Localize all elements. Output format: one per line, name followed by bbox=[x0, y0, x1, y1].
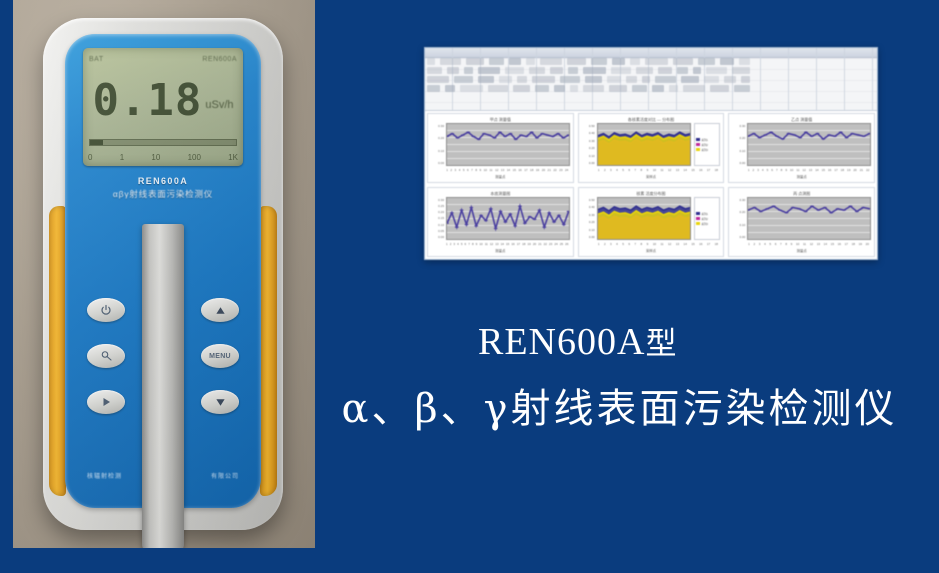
spreadsheet-cell bbox=[478, 67, 500, 74]
lcd-scale-tick: 1K bbox=[228, 153, 238, 162]
lcd-scale: 0 1 10 100 1K bbox=[88, 151, 238, 163]
spreadsheet-cell bbox=[681, 76, 699, 83]
x-tick-label: 4 bbox=[762, 168, 764, 172]
x-tick-label: 13 bbox=[676, 242, 679, 246]
grip-right bbox=[260, 206, 277, 496]
x-tick-label: 8 bbox=[475, 168, 477, 172]
y-tick-label: 0.30 bbox=[582, 139, 595, 143]
hand-strap bbox=[142, 224, 184, 548]
x-tick-label: 9 bbox=[647, 242, 649, 246]
x-tick-label: 24 bbox=[565, 168, 568, 172]
chart-title: 各核素活度对比 — 分布图 bbox=[582, 116, 721, 123]
spreadsheet-cell bbox=[683, 85, 705, 92]
chart-series-svg bbox=[598, 198, 691, 239]
product-title-line2: α、β、γ射线表面污染检测仪 bbox=[300, 386, 939, 432]
x-tick-label: 11 bbox=[660, 242, 663, 246]
chart-y-axis: 0.300.200.100.00 bbox=[732, 123, 745, 166]
legend-item: 系列3 bbox=[696, 148, 718, 152]
spreadsheet-cell bbox=[739, 58, 750, 65]
chart-y-axis: 0.300.200.100.00 bbox=[431, 123, 444, 166]
x-tick-label: 1 bbox=[446, 168, 448, 172]
x-tick-label: 4 bbox=[457, 242, 459, 246]
x-tick-label: 20 bbox=[542, 168, 545, 172]
spreadsheet-cell bbox=[550, 67, 563, 74]
chart-y-axis: 0.500.400.300.200.100.00 bbox=[582, 197, 595, 240]
down-button[interactable] bbox=[201, 390, 239, 414]
x-tick-label: 14 bbox=[684, 168, 687, 172]
x-tick-label: 10 bbox=[479, 242, 482, 246]
chart-title: 核素 活度分布图 bbox=[582, 190, 721, 197]
x-tick-label: 25 bbox=[560, 242, 563, 246]
chart-series-svg bbox=[598, 124, 691, 165]
x-tick-label: 15 bbox=[831, 242, 834, 246]
y-tick-label: 0.10 bbox=[732, 223, 745, 227]
legend-label: 系列1 bbox=[701, 138, 708, 142]
y-tick-label: 0.00 bbox=[431, 161, 444, 165]
chart-x-label: 测量点 bbox=[431, 248, 570, 254]
spreadsheet-cell bbox=[612, 58, 625, 65]
spreadsheet-cell bbox=[655, 76, 676, 83]
legend-label: 系列2 bbox=[701, 217, 708, 221]
y-tick-label: 0.20 bbox=[431, 136, 444, 140]
chart-x-label: 测量点 bbox=[732, 248, 871, 254]
x-tick-label: 2 bbox=[604, 242, 606, 246]
legend-swatch bbox=[696, 138, 700, 141]
x-tick-label: 6 bbox=[467, 168, 469, 172]
x-tick-label: 12 bbox=[810, 242, 813, 246]
chart-series-svg bbox=[748, 124, 870, 165]
x-tick-label: 11 bbox=[796, 168, 799, 172]
spreadsheet-cell bbox=[447, 67, 459, 74]
y-tick-label: 0.20 bbox=[582, 220, 595, 224]
x-tick-label: 14 bbox=[815, 168, 818, 172]
spreadsheet-cell bbox=[652, 85, 664, 92]
x-tick-label: 14 bbox=[501, 242, 504, 246]
x-tick-label: 18 bbox=[715, 168, 718, 172]
legend-label: 系列3 bbox=[701, 148, 708, 152]
legend-item: 系列3 bbox=[696, 222, 718, 226]
chart-plot-area bbox=[597, 197, 692, 240]
spreadsheet-cell bbox=[517, 76, 527, 83]
x-tick-label: 15 bbox=[513, 168, 516, 172]
y-tick-label: 0.50 bbox=[582, 124, 595, 128]
legend-label: 系列2 bbox=[701, 143, 708, 147]
y-tick-label: 0.20 bbox=[732, 210, 745, 214]
y-tick-label: 0.30 bbox=[732, 198, 745, 202]
y-tick-label: 0.20 bbox=[431, 210, 444, 214]
chart-legend: 系列1系列2系列3 bbox=[694, 197, 720, 240]
y-tick-label: 0.00 bbox=[582, 161, 595, 165]
spreadsheet-cell bbox=[645, 58, 668, 65]
x-tick-label: 13 bbox=[676, 168, 679, 172]
y-tick-label: 0.30 bbox=[431, 198, 444, 202]
x-tick-label: 6 bbox=[628, 168, 630, 172]
x-tick-label: 12 bbox=[803, 168, 806, 172]
spreadsheet-cell bbox=[642, 76, 650, 83]
spreadsheet-cell bbox=[540, 58, 562, 65]
spreadsheet-cell bbox=[529, 67, 545, 74]
legend-swatch bbox=[696, 212, 700, 215]
x-tick-label: 24 bbox=[554, 242, 557, 246]
spreadsheet-cell bbox=[454, 76, 473, 83]
device-body: BAT REN600A 0.18 uSv/h 0 1 10 100 1K bbox=[43, 18, 283, 530]
spreadsheet-cell bbox=[724, 76, 736, 83]
x-tick-label: 12 bbox=[668, 168, 671, 172]
x-tick-label: 13 bbox=[809, 168, 812, 172]
chart-x-label: 采样点 bbox=[582, 248, 721, 254]
spreadsheet-cell bbox=[585, 76, 602, 83]
chart-y-axis: 0.300.200.100.00 bbox=[732, 197, 745, 240]
triangle-up-icon bbox=[214, 305, 227, 316]
legend-item: 系列2 bbox=[696, 143, 718, 147]
spreadsheet-cell bbox=[427, 67, 442, 74]
x-tick-label: 8 bbox=[641, 168, 643, 172]
x-tick-label: 6 bbox=[628, 242, 630, 246]
spreadsheet-cell bbox=[560, 76, 580, 83]
legend-label: 系列3 bbox=[701, 222, 708, 226]
x-tick-label: 1 bbox=[598, 242, 600, 246]
chart-x-axis: 123456789101112131415161718192021222324 bbox=[445, 166, 570, 174]
x-tick-label: 2 bbox=[450, 242, 452, 246]
x-tick-label: 7 bbox=[780, 242, 782, 246]
y-tick-label: 0.00 bbox=[431, 235, 444, 239]
spreadsheet-cell bbox=[583, 67, 606, 74]
triangle-down-icon bbox=[214, 397, 227, 408]
spreadsheet-cell bbox=[509, 58, 521, 65]
x-tick-label: 1 bbox=[748, 242, 750, 246]
power-button[interactable] bbox=[87, 298, 125, 322]
y-tick-label: 0.40 bbox=[582, 131, 595, 135]
y-tick-label: 0.05 bbox=[431, 229, 444, 233]
product-model-name: REN600A bbox=[478, 321, 645, 363]
x-tick-label: 3 bbox=[453, 242, 455, 246]
lcd-scale-tick: 0 bbox=[88, 153, 92, 162]
x-tick-label: 17 bbox=[707, 242, 710, 246]
x-tick-label: 2 bbox=[753, 168, 755, 172]
spreadsheet-cell bbox=[677, 67, 688, 74]
x-tick-label: 23 bbox=[559, 168, 562, 172]
x-tick-label: 7 bbox=[634, 242, 636, 246]
chart-plot-area bbox=[597, 123, 692, 166]
x-tick-label: 12 bbox=[490, 242, 493, 246]
x-tick-label: 19 bbox=[859, 242, 862, 246]
x-tick-label: 16 bbox=[511, 242, 514, 246]
spreadsheet-cell bbox=[698, 58, 715, 65]
chart-title: 丙 点测图 bbox=[732, 190, 871, 197]
x-tick-label: 4 bbox=[616, 242, 618, 246]
y-tick-label: 0.10 bbox=[732, 149, 745, 153]
x-tick-label: 16 bbox=[828, 168, 831, 172]
x-tick-label: 15 bbox=[506, 242, 509, 246]
spreadsheet-cell bbox=[505, 67, 524, 74]
y-tick-label: 0.10 bbox=[431, 149, 444, 153]
footer-right-text: 有限公司 bbox=[211, 471, 239, 480]
x-tick-label: 3 bbox=[759, 242, 761, 246]
x-tick-label: 23 bbox=[549, 242, 552, 246]
x-tick-label: 16 bbox=[699, 168, 702, 172]
x-tick-label: 6 bbox=[771, 168, 773, 172]
x-tick-label: 5 bbox=[622, 168, 624, 172]
x-tick-label: 21 bbox=[548, 168, 551, 172]
chart-x-label: 测量点 bbox=[431, 174, 570, 180]
x-tick-label: 5 bbox=[461, 242, 463, 246]
spreadsheet-cell bbox=[669, 85, 678, 92]
chart-plot-area bbox=[747, 197, 871, 240]
chart-body: 0.500.400.300.200.100.00系列1系列2系列3 bbox=[582, 123, 721, 166]
x-tick-label: 19 bbox=[847, 168, 850, 172]
x-tick-label: 6 bbox=[775, 242, 777, 246]
lcd-display: BAT REN600A 0.18 uSv/h 0 1 10 100 1K bbox=[83, 48, 243, 166]
x-tick-label: 8 bbox=[472, 242, 474, 246]
spreadsheet-cell bbox=[567, 58, 586, 65]
x-tick-label: 18 bbox=[530, 168, 533, 172]
product-photo: BAT REN600A 0.18 uSv/h 0 1 10 100 1K bbox=[13, 0, 315, 548]
spreadsheet-cell bbox=[591, 58, 607, 65]
y-tick-label: 0.00 bbox=[732, 235, 745, 239]
chart-panel: 甲点 测量值0.300.200.100.00123456789101112131… bbox=[427, 113, 574, 183]
x-tick-label: 22 bbox=[553, 168, 556, 172]
x-tick-label: 9 bbox=[647, 168, 649, 172]
x-tick-label: 13 bbox=[501, 168, 504, 172]
spreadsheet-cell bbox=[568, 67, 578, 74]
x-tick-label: 3 bbox=[610, 242, 612, 246]
x-tick-label: 4 bbox=[764, 242, 766, 246]
x-tick-label: 10 bbox=[653, 168, 656, 172]
spreadsheet-cell bbox=[499, 76, 512, 83]
x-tick-label: 1 bbox=[748, 168, 750, 172]
legend-item: 系列2 bbox=[696, 217, 718, 221]
chart-title: 乙点 测量值 bbox=[732, 116, 871, 123]
chart-panel: 各核素活度对比 — 分布图0.500.400.300.200.100.00系列1… bbox=[578, 113, 725, 183]
y-tick-label: 0.00 bbox=[582, 235, 595, 239]
chart-series-svg bbox=[447, 124, 569, 165]
spreadsheet-cell bbox=[710, 85, 729, 92]
x-tick-label: 2 bbox=[604, 168, 606, 172]
lcd-status-right: REN600A bbox=[202, 56, 237, 63]
x-tick-label: 4 bbox=[616, 168, 618, 172]
chart-y-axis: 0.300.250.200.150.100.050.00 bbox=[431, 197, 444, 240]
x-tick-label: 11 bbox=[660, 168, 663, 172]
x-tick-label: 10 bbox=[796, 242, 799, 246]
y-tick-label: 0.10 bbox=[582, 154, 595, 158]
spreadsheet-cell bbox=[526, 58, 535, 65]
spreadsheet-cells bbox=[427, 58, 875, 108]
y-tick-label: 0.15 bbox=[431, 216, 444, 220]
spreadsheet-cell bbox=[466, 58, 484, 65]
x-tick-label: 16 bbox=[838, 242, 841, 246]
x-tick-label: 11 bbox=[803, 242, 806, 246]
x-tick-label: 7 bbox=[776, 168, 778, 172]
spreadsheet-cell bbox=[611, 67, 631, 74]
chart-x-label: 采样点 bbox=[582, 174, 721, 180]
spreadsheet-cell bbox=[626, 76, 637, 83]
x-tick-label: 18 bbox=[715, 242, 718, 246]
y-tick-label: 0.30 bbox=[431, 124, 444, 128]
x-tick-label: 3 bbox=[610, 168, 612, 172]
x-tick-label: 10 bbox=[653, 242, 656, 246]
x-tick-label: 7 bbox=[634, 168, 636, 172]
x-tick-label: 13 bbox=[817, 242, 820, 246]
chart-body: 0.300.200.100.00 bbox=[732, 123, 871, 166]
x-tick-label: 5 bbox=[463, 168, 465, 172]
x-tick-label: 16 bbox=[518, 168, 521, 172]
spreadsheet-cell bbox=[734, 85, 750, 92]
spreadsheet-cell bbox=[427, 85, 440, 92]
chart-panel: 本底测量图0.300.250.200.150.100.050.001234567… bbox=[427, 187, 574, 257]
spreadsheet-cell bbox=[741, 76, 750, 83]
lcd-scale-tick: 100 bbox=[188, 153, 201, 162]
y-tick-label: 0.50 bbox=[582, 198, 595, 202]
x-tick-label: 18 bbox=[522, 242, 525, 246]
chart-x-axis: 123456789101112131415161718 bbox=[596, 166, 721, 174]
magnifier-icon bbox=[100, 350, 113, 362]
spreadsheet-row bbox=[427, 58, 875, 65]
menu-text-icon: MENU bbox=[209, 353, 231, 360]
legend-item: 系列1 bbox=[696, 212, 718, 216]
spreadsheet-cell bbox=[720, 58, 734, 65]
lcd-unit: uSv/h bbox=[205, 91, 233, 111]
x-tick-label: 22 bbox=[866, 168, 869, 172]
play-button[interactable] bbox=[87, 390, 125, 414]
x-tick-label: 10 bbox=[484, 168, 487, 172]
chart-plot-area bbox=[446, 197, 570, 240]
x-tick-label: 9 bbox=[785, 168, 787, 172]
device-model-text: REN600A bbox=[65, 176, 261, 186]
chart-x-axis: 1234567891011121314151617181920212223242… bbox=[445, 240, 570, 248]
x-tick-label: 17 bbox=[845, 242, 848, 246]
x-tick-label: 7 bbox=[471, 168, 473, 172]
spreadsheet-cell bbox=[554, 85, 565, 92]
spreadsheet-cell bbox=[535, 85, 549, 92]
spreadsheet-cell bbox=[427, 58, 435, 65]
chart-body: 0.300.250.200.150.100.050.00 bbox=[431, 197, 570, 240]
chart-x-axis: 1234567891011121314151617181920 bbox=[746, 240, 871, 248]
software-screenshot-panel: 甲点 测量值0.300.200.100.00123456789101112131… bbox=[424, 47, 878, 260]
chart-y-axis: 0.500.400.300.200.100.00 bbox=[582, 123, 595, 166]
spreadsheet-row bbox=[427, 67, 875, 74]
chart-title: 本底测量图 bbox=[431, 190, 570, 197]
x-tick-label: 21 bbox=[860, 168, 863, 172]
spreadsheet-cell bbox=[632, 85, 647, 92]
lcd-scale-tick: 1 bbox=[120, 153, 124, 162]
x-tick-label: 12 bbox=[668, 242, 671, 246]
x-tick-label: 17 bbox=[524, 168, 527, 172]
lcd-bargraph bbox=[89, 139, 237, 146]
grip-left bbox=[49, 206, 66, 496]
x-tick-label: 20 bbox=[533, 242, 536, 246]
spreadsheet-area bbox=[425, 48, 877, 111]
x-tick-label: 26 bbox=[565, 242, 568, 246]
x-tick-label: 7 bbox=[468, 242, 470, 246]
x-tick-label: 3 bbox=[455, 168, 457, 172]
x-tick-label: 9 bbox=[791, 242, 793, 246]
x-tick-label: 14 bbox=[824, 242, 827, 246]
y-tick-label: 0.30 bbox=[582, 213, 595, 217]
x-tick-label: 5 bbox=[769, 242, 771, 246]
x-tick-label: 1 bbox=[446, 242, 448, 246]
chart-panel: 丙 点测图0.300.200.100.001234567891011121314… bbox=[728, 187, 875, 257]
x-tick-label: 14 bbox=[684, 242, 687, 246]
legend-item: 系列1 bbox=[696, 138, 718, 142]
x-tick-label: 8 bbox=[781, 168, 783, 172]
spreadsheet-cell bbox=[583, 85, 604, 92]
x-tick-label: 13 bbox=[495, 242, 498, 246]
x-tick-label: 9 bbox=[476, 242, 478, 246]
spreadsheet-cell bbox=[706, 67, 727, 74]
chart-legend: 系列1系列2系列3 bbox=[694, 123, 720, 166]
spreadsheet-cell bbox=[609, 85, 627, 92]
spreadsheet-cell bbox=[427, 76, 449, 83]
spreadsheet-cell bbox=[732, 67, 750, 74]
x-tick-label: 17 bbox=[707, 168, 710, 172]
spreadsheet-cell bbox=[607, 76, 621, 83]
x-tick-label: 15 bbox=[691, 168, 694, 172]
chart-x-label: 测量点 bbox=[732, 174, 871, 180]
x-tick-label: 19 bbox=[536, 168, 539, 172]
spreadsheet-cell bbox=[513, 85, 530, 92]
spreadsheet-row bbox=[427, 76, 875, 83]
chart-x-axis: 12345678910111213141516171819202122 bbox=[746, 166, 871, 174]
x-tick-label: 11 bbox=[489, 168, 492, 172]
x-tick-label: 1 bbox=[598, 168, 600, 172]
x-tick-label: 22 bbox=[544, 242, 547, 246]
product-title-line1: REN600A型 bbox=[478, 322, 939, 364]
y-tick-label: 0.25 bbox=[431, 204, 444, 208]
x-tick-label: 17 bbox=[517, 242, 520, 246]
y-tick-label: 0.10 bbox=[582, 228, 595, 232]
x-tick-label: 15 bbox=[691, 242, 694, 246]
y-tick-label: 0.30 bbox=[732, 124, 745, 128]
spreadsheet-cell bbox=[570, 85, 578, 92]
slide-root: BAT REN600A 0.18 uSv/h 0 1 10 100 1K bbox=[0, 0, 939, 573]
device-label: REN600A αβγ射线表面污染检测仪 bbox=[65, 176, 261, 200]
x-tick-label: 16 bbox=[699, 242, 702, 246]
lcd-status-left: BAT bbox=[89, 56, 104, 63]
x-tick-label: 2 bbox=[753, 242, 755, 246]
spreadsheet-row bbox=[427, 85, 875, 92]
x-tick-label: 2 bbox=[450, 168, 452, 172]
spreadsheet-cell bbox=[704, 76, 719, 83]
title-block: REN600A型 α、β、γ射线表面污染检测仪 bbox=[300, 322, 939, 432]
spreadsheet-cell bbox=[478, 76, 494, 83]
menu-button[interactable]: MENU bbox=[201, 344, 239, 368]
legend-swatch bbox=[696, 222, 700, 225]
x-tick-label: 9 bbox=[479, 168, 481, 172]
product-model-suffix: 型 bbox=[645, 326, 677, 362]
y-tick-label: 0.20 bbox=[582, 146, 595, 150]
x-tick-label: 6 bbox=[465, 242, 467, 246]
lcd-status-bar: BAT REN600A bbox=[89, 53, 237, 66]
power-icon bbox=[100, 304, 112, 316]
play-icon bbox=[100, 396, 112, 408]
spreadsheet-cell bbox=[532, 76, 555, 83]
charts-grid: 甲点 测量值0.300.200.100.00123456789101112131… bbox=[425, 111, 877, 259]
spreadsheet-cell bbox=[464, 67, 473, 74]
x-tick-label: 17 bbox=[834, 168, 837, 172]
x-tick-label: 4 bbox=[459, 168, 461, 172]
lcd-value: 0.18 bbox=[92, 79, 202, 123]
x-tick-label: 18 bbox=[841, 168, 844, 172]
spreadsheet-cell bbox=[445, 85, 455, 92]
chart-body: 0.300.200.100.00 bbox=[732, 197, 871, 240]
spreadsheet-cell bbox=[630, 58, 640, 65]
light-button[interactable] bbox=[87, 344, 125, 368]
x-tick-label: 12 bbox=[495, 168, 498, 172]
chart-panel: 乙点 测量值0.300.200.100.00123456789101112131… bbox=[728, 113, 875, 183]
x-tick-label: 5 bbox=[767, 168, 769, 172]
spreadsheet-cell bbox=[460, 85, 483, 92]
up-button[interactable] bbox=[201, 298, 239, 322]
